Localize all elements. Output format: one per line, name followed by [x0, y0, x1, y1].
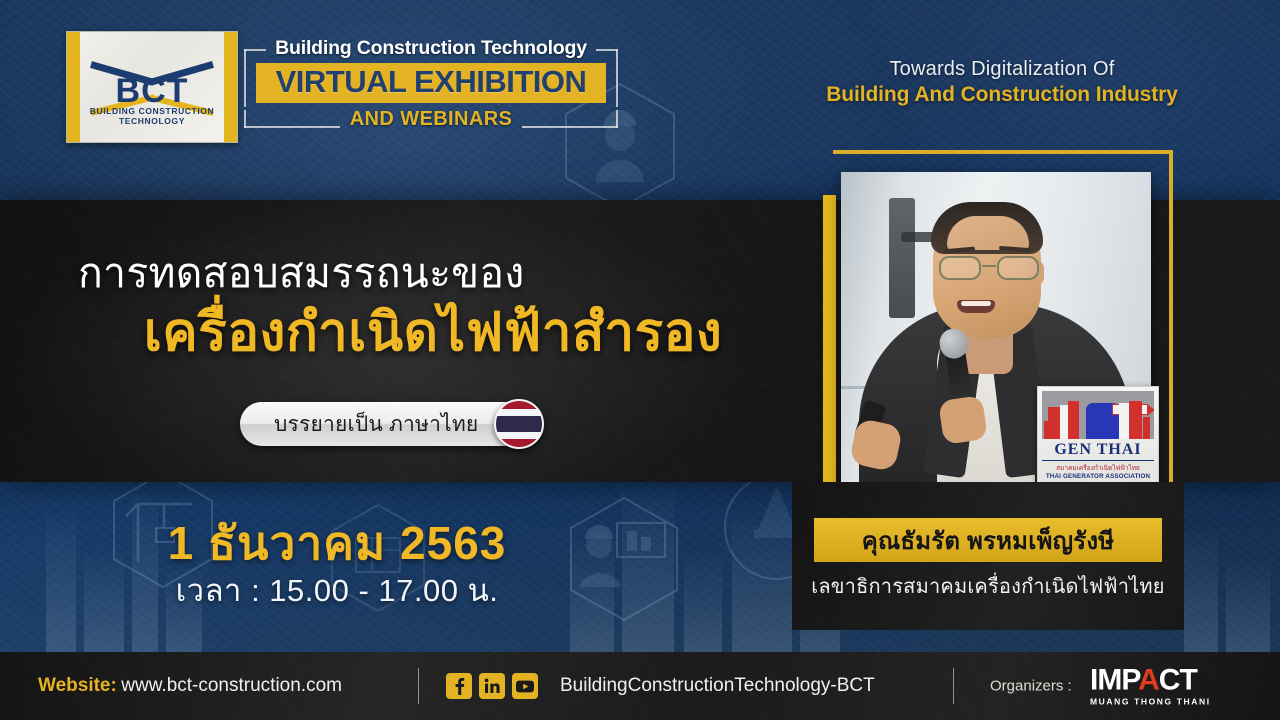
event-time: เวลา : 15.00 - 17.00 น.: [112, 571, 562, 611]
footer-website[interactable]: Website: www.bct-construction.com: [38, 675, 342, 697]
gen-thai-thai-name: สมาคมเครื่องกำเนิดไฟฟ้าไทย: [1042, 463, 1154, 473]
webinar-banner: BCT BUILDING CONSTRUCTION TECHNOLOGY Bui…: [0, 0, 1280, 720]
topic-title-line1: การทดสอบสมรรถนะของ: [78, 246, 788, 300]
speaker-hair: [931, 202, 1043, 254]
header: BCT BUILDING CONSTRUCTION TECHNOLOGY Bui…: [0, 0, 1280, 168]
speaker-name: คุณธัมรัต พรหมเพ็ญรังษี: [862, 521, 1115, 560]
logo-subtitle-line1: BUILDING CONSTRUCTION: [67, 106, 237, 116]
footer-social-handle[interactable]: BuildingConstructionTechnology-BCT: [560, 675, 875, 697]
linkedin-icon[interactable]: [479, 673, 505, 699]
exhibition-banner: Building Construction Technology VIRTUAL…: [256, 36, 606, 136]
impact-logo-part1: IMP: [1090, 664, 1138, 697]
gen-thai-emblem-icon: [1042, 391, 1154, 439]
impact-logo-part2: CT: [1159, 664, 1197, 697]
speaker-role: เลขาธิการสมาคมเครื่องกำเนิดไฟฟ้าไทย: [792, 570, 1184, 602]
background-skyline-right: [1180, 472, 1280, 662]
footer-social-icons: [446, 673, 538, 699]
facebook-icon[interactable]: [446, 673, 472, 699]
topic-title: การทดสอบสมรรถนะของ เครื่องกำเนิดไฟฟ้าสำร…: [78, 246, 788, 366]
hexagon-engineer-monitor-icon: [565, 495, 683, 623]
bct-logo[interactable]: BCT BUILDING CONSTRUCTION TECHNOLOGY: [66, 31, 238, 143]
gen-thai-name: GEN THAI: [1042, 441, 1154, 461]
topic-title-line2: เครื่องกำเนิดไฟฟ้าสำรอง: [78, 300, 788, 366]
speaker-name-bar: คุณธัมรัต พรหมเพ็ญรังษี: [814, 518, 1162, 562]
impact-logo-subtitle: MUANG THONG THANI: [1090, 697, 1211, 707]
tagline: Towards Digitalization Of Building And C…: [792, 56, 1212, 108]
youtube-icon[interactable]: [512, 673, 538, 699]
footer-organizers-label: Organizers :: [990, 678, 1072, 695]
speaker-name-panel: คุณธัมรัต พรหมเพ็ญรังษี เลขาธิการสมาคมเค…: [792, 482, 1184, 630]
event-date-time: 1 ธันวาคม 2563 เวลา : 15.00 - 17.00 น.: [112, 515, 562, 611]
footer-divider-2: [953, 668, 954, 704]
gen-thai-logo: GEN THAI สมาคมเครื่องกำเนิดไฟฟ้าไทย THAI…: [1037, 386, 1159, 486]
exhibition-top-text: Building Construction Technology: [256, 36, 606, 60]
exhibition-title: VIRTUAL EXHIBITION: [256, 63, 606, 103]
footer-divider-1: [418, 668, 419, 704]
thailand-flag-icon: [494, 399, 544, 449]
language-badge-label: บรรยายเป็น ภาษาไทย: [274, 408, 478, 441]
speaker-glasses-icon: [937, 256, 1041, 280]
footer-website-label: Website:: [38, 675, 117, 696]
gen-thai-english-name: THAI GENERATOR ASSOCIATION: [1042, 473, 1154, 480]
speaker-hand-right: [938, 395, 988, 445]
tagline-line1: Towards Digitalization Of: [792, 56, 1212, 82]
exhibition-bottom-text: AND WEBINARS: [256, 108, 606, 130]
impact-logo: IMPACT MUANG THONG THANI: [1090, 666, 1211, 707]
event-date: 1 ธันวาคม 2563: [112, 515, 562, 571]
impact-logo-name: IMPACT: [1090, 666, 1211, 696]
speaker-mouth: [957, 300, 995, 313]
footer-website-url[interactable]: www.bct-construction.com: [121, 675, 342, 696]
logo-subtitle-line2: TECHNOLOGY: [67, 116, 237, 126]
photo-background-post: [889, 198, 915, 318]
language-badge: บรรยายเป็น ภาษาไทย: [240, 402, 540, 446]
tagline-line2: Building And Construction Industry: [792, 82, 1212, 108]
impact-logo-accent: A: [1138, 664, 1159, 697]
footer: Website: www.bct-construction.com Buildi…: [0, 652, 1280, 720]
